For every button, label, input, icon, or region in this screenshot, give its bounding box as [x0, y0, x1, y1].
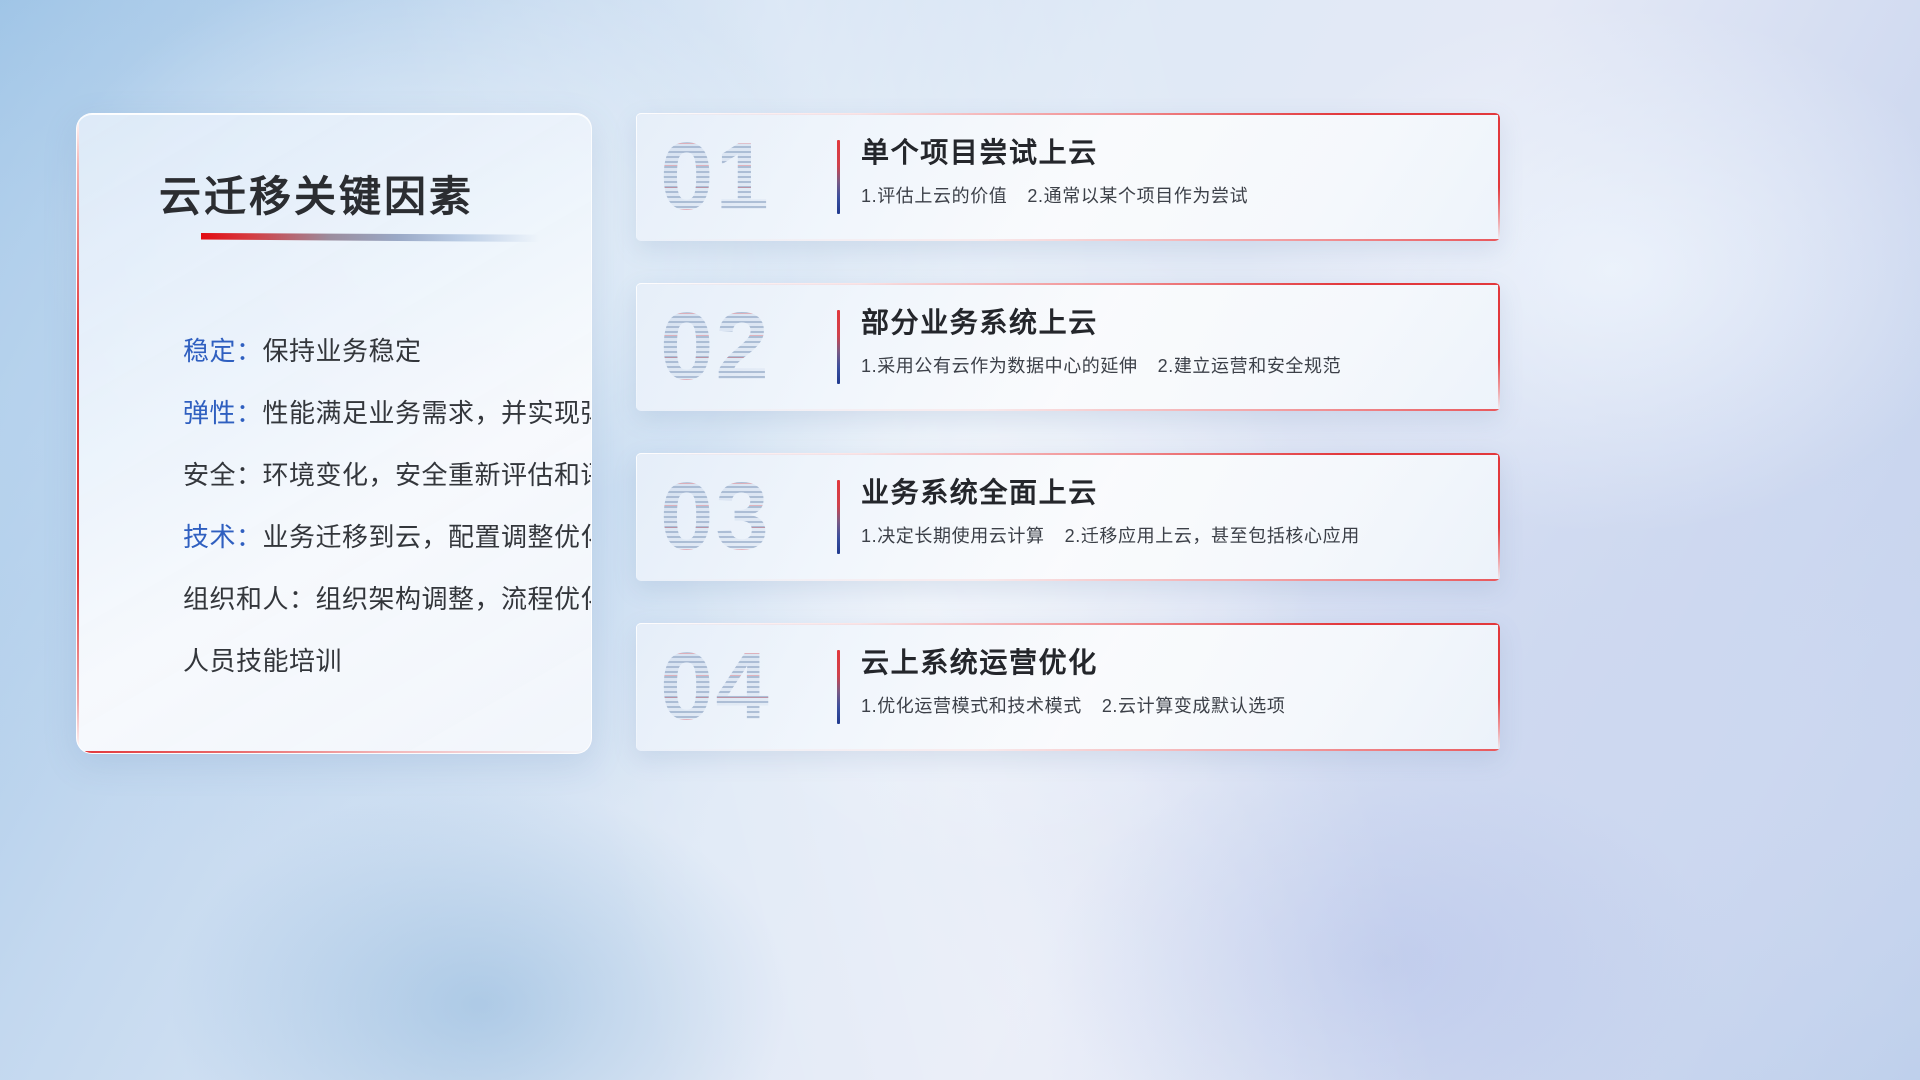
- step-number-watermark: 03: [660, 461, 830, 573]
- card-accent-bar: [837, 650, 840, 724]
- step-number-watermark: 01: [660, 121, 830, 233]
- card-border-top: [636, 623, 1500, 625]
- key-factor-label: 稳定：: [183, 336, 263, 366]
- card-content: 业务系统全面上云1.决定长期使用云计算2.迁移应用上云，甚至包括核心应用: [861, 473, 1476, 549]
- card-description-part-2: 2.建立运营和安全规范: [1158, 356, 1342, 376]
- card-title: 业务系统全面上云: [861, 473, 1476, 513]
- key-factor-row: 弹性：性能满足业务需求，并实现弹性: [183, 382, 571, 444]
- card-description-part-1: 1.评估上云的价值: [861, 186, 1007, 206]
- key-factor-row: 技术：业务迁移到云，配置调整优化: [183, 506, 571, 568]
- step-card-02[interactable]: 0202部分业务系统上云1.采用公有云作为数据中心的延伸2.建立运营和安全规范: [636, 283, 1500, 411]
- card-border-left: [636, 453, 637, 581]
- key-factor-label: 组织和人：: [183, 584, 316, 614]
- key-factor-text: 组织架构调整，流程优化,: [316, 584, 592, 614]
- card-description: 1.决定长期使用云计算2.迁移应用上云，甚至包括核心应用: [861, 523, 1476, 549]
- card-title: 单个项目尝试上云: [861, 133, 1476, 173]
- step-number-watermark: 04: [660, 631, 830, 743]
- card-description-part-2: 2.通常以某个项目作为尝试: [1027, 186, 1248, 206]
- card-border-bottom: [636, 749, 1500, 751]
- step-number-watermark-accent: 04: [660, 631, 830, 743]
- key-factors-list: 稳定：保持业务稳定弹性：性能满足业务需求，并实现弹性安全：环境变化，安全重新评估…: [183, 320, 571, 692]
- card-border-top: [636, 453, 1500, 455]
- card-border-left: [636, 283, 637, 411]
- card-description-part-2: 2.云计算变成默认选项: [1102, 696, 1286, 716]
- card-description: 1.优化运营模式和技术模式2.云计算变成默认选项: [861, 693, 1476, 719]
- card-accent-bar: [837, 310, 840, 384]
- step-number-watermark: 02: [660, 291, 830, 403]
- step-card-04[interactable]: 0404云上系统运营优化1.优化运营模式和技术模式2.云计算变成默认选项: [636, 623, 1500, 751]
- step-number-watermark-accent: 01: [660, 121, 830, 233]
- card-border-left: [636, 113, 637, 241]
- step-number-watermark-accent: 03: [660, 461, 830, 573]
- card-description-part-2: 2.迁移应用上云，甚至包括核心应用: [1065, 526, 1360, 546]
- card-border-top: [636, 113, 1500, 115]
- key-factor-row: 组织和人：组织架构调整，流程优化,: [183, 568, 571, 630]
- key-factor-label: 弹性：: [183, 398, 263, 428]
- key-factor-label: 安全：: [183, 460, 263, 490]
- migration-steps-list: 0101单个项目尝试上云1.评估上云的价值2.通常以某个项目作为尝试0202部分…: [636, 113, 1500, 793]
- card-accent-bar: [837, 140, 840, 214]
- card-description-part-1: 1.优化运营模式和技术模式: [861, 696, 1082, 716]
- key-factor-row: 安全：环境变化，安全重新评估和评审: [183, 444, 571, 506]
- card-border-bottom: [636, 239, 1500, 241]
- key-factor-text: 保持业务稳定: [263, 336, 422, 366]
- card-border-right: [1498, 113, 1500, 241]
- card-title: 云上系统运营优化: [861, 643, 1476, 683]
- card-border-right: [1498, 623, 1500, 751]
- key-factor-text: 业务迁移到云，配置调整优化: [263, 522, 592, 552]
- key-factor-text: 性能满足业务需求，并实现弹性: [263, 398, 592, 428]
- card-description-part-1: 1.采用公有云作为数据中心的延伸: [861, 356, 1138, 376]
- key-factor-row: 人员技能培训: [183, 630, 571, 692]
- card-description-part-1: 1.决定长期使用云计算: [861, 526, 1045, 546]
- key-factor-label: 技术：: [183, 522, 263, 552]
- card-border-bottom: [636, 409, 1500, 411]
- key-factors-panel: 云迁移关键因素 稳定：保持业务稳定弹性：性能满足业务需求，并实现弹性安全：环境变…: [76, 113, 592, 754]
- key-factor-row: 稳定：保持业务稳定: [183, 320, 571, 382]
- page-title: 云迁移关键因素: [159, 163, 474, 224]
- card-description: 1.评估上云的价值2.通常以某个项目作为尝试: [861, 183, 1476, 209]
- step-card-03[interactable]: 0303业务系统全面上云1.决定长期使用云计算2.迁移应用上云，甚至包括核心应用: [636, 453, 1500, 581]
- step-card-01[interactable]: 0101单个项目尝试上云1.评估上云的价值2.通常以某个项目作为尝试: [636, 113, 1500, 241]
- card-title: 部分业务系统上云: [861, 303, 1476, 343]
- title-underline-accent: [201, 233, 539, 242]
- card-border-right: [1498, 283, 1500, 411]
- card-content: 云上系统运营优化1.优化运营模式和技术模式2.云计算变成默认选项: [861, 643, 1476, 719]
- card-border-top: [636, 283, 1500, 285]
- card-accent-bar: [837, 480, 840, 554]
- key-factor-text: 环境变化，安全重新评估和评审: [263, 460, 592, 490]
- card-content: 单个项目尝试上云1.评估上云的价值2.通常以某个项目作为尝试: [861, 133, 1476, 209]
- card-border-left: [636, 623, 637, 751]
- card-content: 部分业务系统上云1.采用公有云作为数据中心的延伸2.建立运营和安全规范: [861, 303, 1476, 379]
- card-border-bottom: [636, 579, 1500, 581]
- card-description: 1.采用公有云作为数据中心的延伸2.建立运营和安全规范: [861, 353, 1476, 379]
- card-border-right: [1498, 453, 1500, 581]
- key-factor-text: 人员技能培训: [183, 646, 342, 676]
- step-number-watermark-accent: 02: [660, 291, 830, 403]
